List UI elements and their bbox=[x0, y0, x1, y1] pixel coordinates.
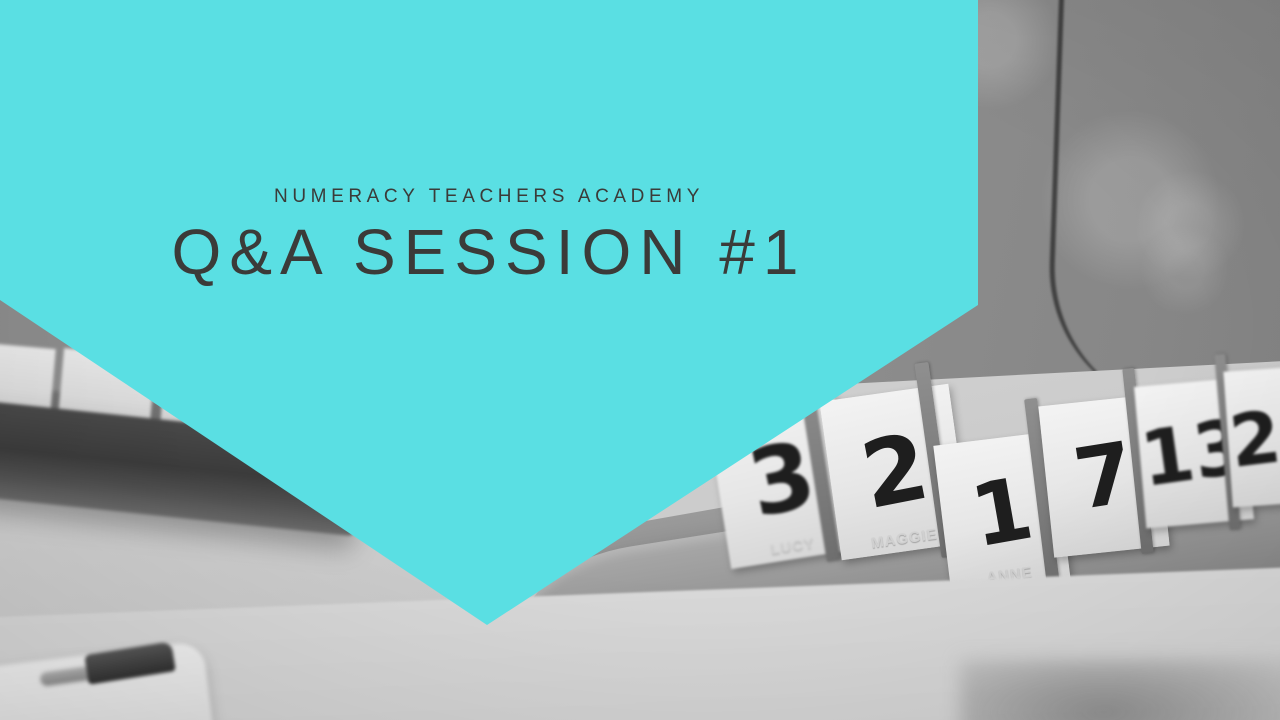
title-slide: 3 LUCY 2 MAGGIE 1 ANNE 7 13 24 bbox=[0, 0, 1280, 720]
teal-banner-shape bbox=[0, 0, 1280, 720]
eyebrow-text: NUMERACY TEACHERS ACADEMY bbox=[0, 186, 978, 208]
title-text-block: NUMERACY TEACHERS ACADEMY Q&A SESSION #1 bbox=[0, 186, 978, 285]
page-title: Q&A SESSION #1 bbox=[0, 220, 978, 285]
